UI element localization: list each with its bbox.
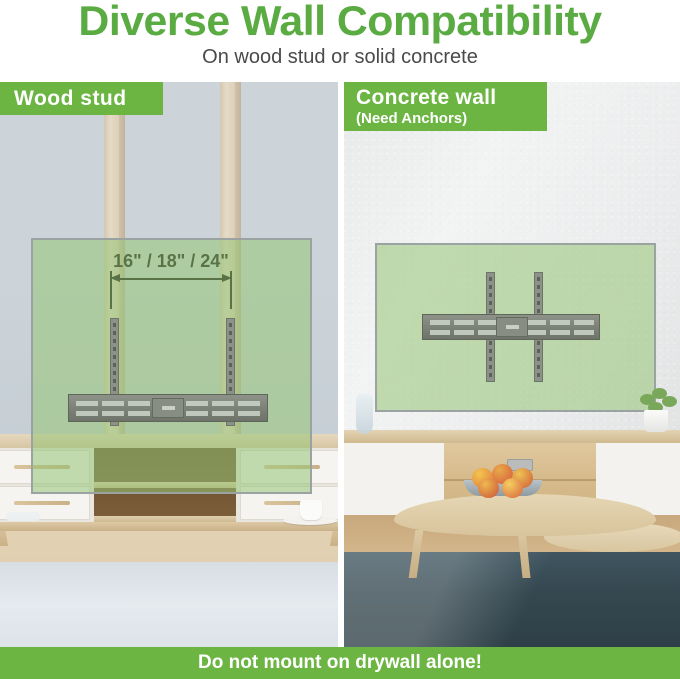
infographic-page: Diverse Wall Compatibility On wood stud … [0, 0, 680, 679]
panel-concrete-wall: Concrete wall (Need Anchors) [344, 82, 680, 647]
label-wood-stud-text: Wood stud [14, 82, 163, 115]
tv-wall-mount-bracket-left [68, 394, 268, 422]
header: Diverse Wall Compatibility On wood stud … [0, 0, 680, 82]
left-rug [0, 562, 338, 647]
coffee-cup [300, 500, 322, 520]
plant-pot [644, 410, 668, 432]
panel-divider [338, 82, 344, 647]
page-title: Diverse Wall Compatibility [0, 0, 680, 44]
panel-wood-stud: 16" / 18" / 24" [0, 82, 338, 647]
apple [502, 478, 523, 498]
label-concrete-wall: Concrete wall (Need Anchors) [344, 82, 547, 131]
page-subtitle: On wood stud or solid concrete [0, 45, 680, 69]
label-wood-stud: Wood stud [0, 82, 163, 115]
drawer-handle [14, 501, 70, 505]
sideboard-top-surface [344, 430, 680, 443]
right-rug-highlight [344, 552, 680, 647]
console-decor-item [6, 512, 40, 521]
apple [478, 478, 499, 498]
console-stretcher [0, 522, 338, 531]
plant-leaf-icon [662, 396, 677, 407]
warning-banner: Do not mount on drywall alone! [0, 647, 680, 679]
tv-wall-mount-bracket-right [422, 314, 600, 340]
label-concrete-wall-title: Concrete wall [356, 85, 547, 110]
glass-vase [356, 394, 373, 434]
warning-banner-text: Do not mount on drywall alone! [198, 652, 482, 674]
tv-outline-overlay-left [31, 238, 312, 494]
label-concrete-wall-note: (Need Anchors) [356, 110, 547, 128]
comparison-panels: 16" / 18" / 24" [0, 82, 680, 647]
